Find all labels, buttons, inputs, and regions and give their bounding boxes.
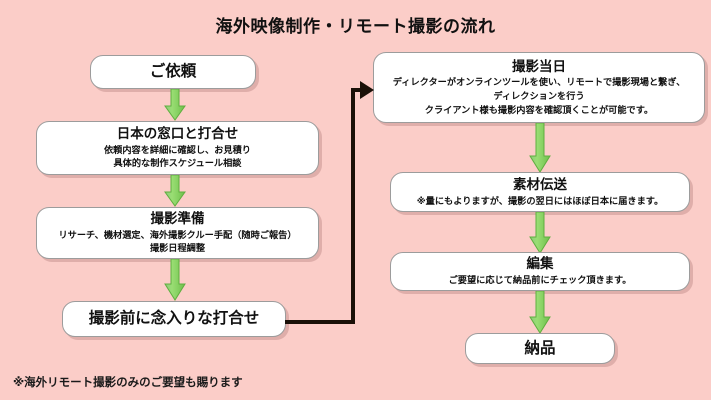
node-shoot-day-line-2: ディレクションを行う	[493, 90, 584, 103]
arrow-japan-contact-to-shoot-prep	[163, 175, 187, 207]
node-japan-contact-line-2: 具体的な制作スケジュール相談	[114, 157, 242, 170]
arrow-shoot-day-to-material-transfer	[528, 123, 552, 173]
arrow-editing-to-delivery	[528, 291, 552, 334]
node-pre-shoot-meeting-heading: 撮影前に念入りな打合せ	[89, 309, 260, 328]
node-request[interactable]: ご依頼	[90, 55, 256, 89]
node-delivery-heading: 納品	[524, 339, 555, 358]
node-editing[interactable]: 編集 ご要望に応じて納品前にチェック頂きます。	[390, 252, 690, 291]
node-editing-heading: 編集	[527, 256, 554, 273]
node-material-transfer[interactable]: 素材伝送 ※量にもよりますが、撮影の翌日にはほぼ日本に届きます。	[390, 172, 690, 212]
arrow-material-transfer-to-editing	[528, 212, 552, 254]
flowchart-canvas: 海外映像制作・リモート撮影の流れ ご依頼 日本の窓口と打合せ 依頼内容を詳細に確…	[0, 0, 711, 400]
node-pre-shoot-meeting[interactable]: 撮影前に念入りな打合せ	[62, 301, 286, 337]
node-material-transfer-heading: 素材伝送	[513, 177, 567, 194]
node-shoot-prep-heading: 撮影準備	[151, 211, 205, 228]
node-shoot-prep-line-1: リサーチ、機材選定、海外撮影クルー手配（随時ご報告）	[58, 229, 296, 242]
node-japan-contact-heading: 日本の窓口と打合せ	[117, 126, 239, 143]
page-title: 海外映像制作・リモート撮影の流れ	[0, 12, 711, 37]
node-shoot-prep-line-2: 撮影日程調整	[150, 242, 205, 255]
node-shoot-prep[interactable]: 撮影準備 リサーチ、機材選定、海外撮影クルー手配（随時ご報告） 撮影日程調整	[36, 207, 319, 259]
node-shoot-day-line-3: クライアント様も撮影内容を確認頂くことが可能です。	[425, 104, 653, 117]
node-japan-contact-line-1: 依頼内容を詳細に確認し、お見積り	[104, 144, 251, 157]
node-shoot-day-line-1: ディレクターがオンラインツールを使い、リモートで撮影現場と繋ぎ、	[393, 76, 686, 89]
node-shoot-day-heading: 撮影当日	[512, 59, 566, 76]
node-request-heading: ご依頼	[150, 62, 197, 81]
arrow-request-to-japan-contact	[163, 89, 187, 121]
node-editing-line-1: ご要望に応じて納品前にチェック頂きます。	[449, 274, 632, 287]
node-material-transfer-line-1: ※量にもよりますが、撮影の翌日にはほぼ日本に届きます。	[417, 195, 664, 208]
node-japan-contact[interactable]: 日本の窓口と打合せ 依頼内容を詳細に確認し、お見積り 具体的な制作スケジュール相…	[36, 121, 319, 175]
footnote: ※海外リモート撮影のみのご要望も賜ります	[13, 374, 243, 390]
node-delivery[interactable]: 納品	[465, 333, 615, 364]
arrow-shoot-prep-to-pre-shoot-meeting	[163, 259, 187, 301]
node-shoot-day[interactable]: 撮影当日 ディレクターがオンラインツールを使い、リモートで撮影現場と繋ぎ、 ディ…	[373, 52, 705, 123]
